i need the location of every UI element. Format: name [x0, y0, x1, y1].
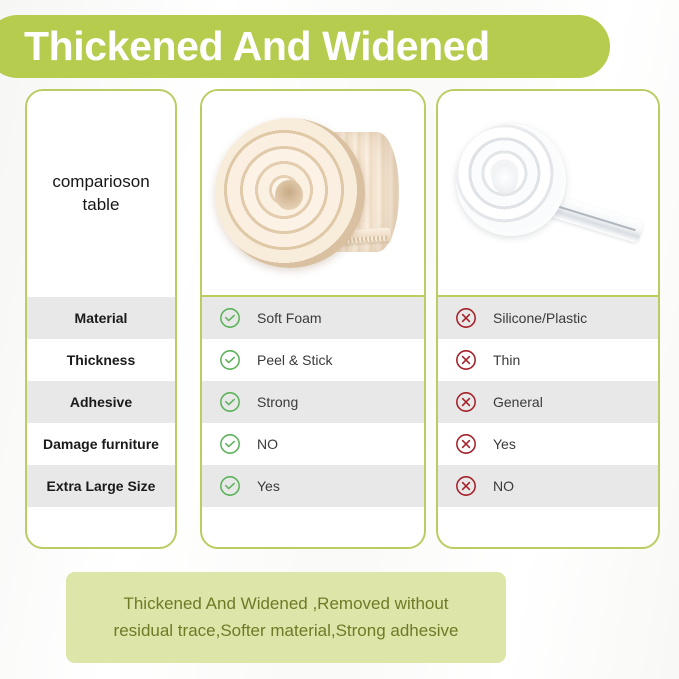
criteria-row: Damage furniture: [27, 423, 175, 465]
check-circle-icon: [219, 391, 241, 413]
check-circle-icon: [219, 307, 241, 329]
criteria-rows: Material Thickness Adhesive Damage furni…: [27, 297, 175, 507]
criteria-label: Thickness: [67, 352, 135, 368]
spec-row: Yes: [202, 465, 424, 507]
comparison-table-heading-line1: comparioson: [52, 171, 149, 194]
spec-row: NO: [438, 465, 658, 507]
spec-row: NO: [202, 423, 424, 465]
silicone-strip-illustration: [448, 118, 648, 268]
criteria-row: Extra Large Size: [27, 465, 175, 507]
spec-value: Soft Foam: [257, 310, 322, 326]
foam-spec-rows: Soft Foam Peel & Stick Strong: [202, 297, 424, 507]
spec-row: Peel & Stick: [202, 339, 424, 381]
spec-row: Strong: [202, 381, 424, 423]
criteria-row: Adhesive: [27, 381, 175, 423]
spec-row: General: [438, 381, 658, 423]
silicone-spec-rows: Silicone/Plastic Thin General: [438, 297, 658, 507]
caption-line-1: Thickened And Widened ,Removed without: [123, 591, 448, 617]
criteria-card: comparioson table Material Thickness Adh…: [25, 89, 177, 549]
comparison-cards: comparioson table Material Thickness Adh…: [0, 89, 679, 550]
foam-roll-image: [202, 91, 424, 297]
foam-product-card: Soft Foam Peel & Stick Strong: [200, 89, 426, 549]
check-circle-icon: [219, 475, 241, 497]
spec-row: Thin: [438, 339, 658, 381]
criteria-label: Damage furniture: [43, 436, 159, 452]
spec-row: Soft Foam: [202, 297, 424, 339]
spec-row: Silicone/Plastic: [438, 297, 658, 339]
spec-value: Silicone/Plastic: [493, 310, 587, 326]
x-circle-icon: [455, 307, 477, 329]
x-circle-icon: [455, 475, 477, 497]
x-circle-icon: [455, 433, 477, 455]
check-circle-icon: [219, 349, 241, 371]
comparison-table-heading: comparioson table: [27, 91, 175, 297]
spec-value: Thin: [493, 352, 520, 368]
silicone-product-card: Silicone/Plastic Thin General: [436, 89, 660, 549]
spec-value: NO: [493, 478, 514, 494]
x-circle-icon: [455, 349, 477, 371]
x-circle-icon: [455, 391, 477, 413]
spec-value: General: [493, 394, 543, 410]
feature-caption-box: Thickened And Widened ,Removed without r…: [66, 572, 506, 663]
spec-value: NO: [257, 436, 278, 452]
product-comparison-infographic: Thickened And Widened comparioson table …: [0, 0, 679, 679]
criteria-row: Material: [27, 297, 175, 339]
spec-value: Yes: [257, 478, 280, 494]
check-circle-icon: [219, 433, 241, 455]
foam-roll-core-hole: [275, 180, 303, 210]
foam-roll-illustration: [215, 118, 411, 268]
clear-silicone-strip-image: [438, 91, 658, 297]
criteria-row: Thickness: [27, 339, 175, 381]
criteria-label: Material: [75, 310, 128, 326]
spec-value: Strong: [257, 394, 298, 410]
header-banner: Thickened And Widened: [0, 15, 610, 78]
spec-value: Yes: [493, 436, 516, 452]
spec-row: Yes: [438, 423, 658, 465]
criteria-label: Extra Large Size: [47, 478, 156, 494]
comparison-table-heading-line2: table: [52, 194, 149, 217]
page-title: Thickened And Widened: [24, 26, 490, 67]
silicone-strip-core-hole: [492, 164, 518, 194]
spec-value: Peel & Stick: [257, 352, 332, 368]
caption-line-2: residual trace,Softer material,Strong ad…: [114, 618, 459, 644]
criteria-label: Adhesive: [70, 394, 132, 410]
